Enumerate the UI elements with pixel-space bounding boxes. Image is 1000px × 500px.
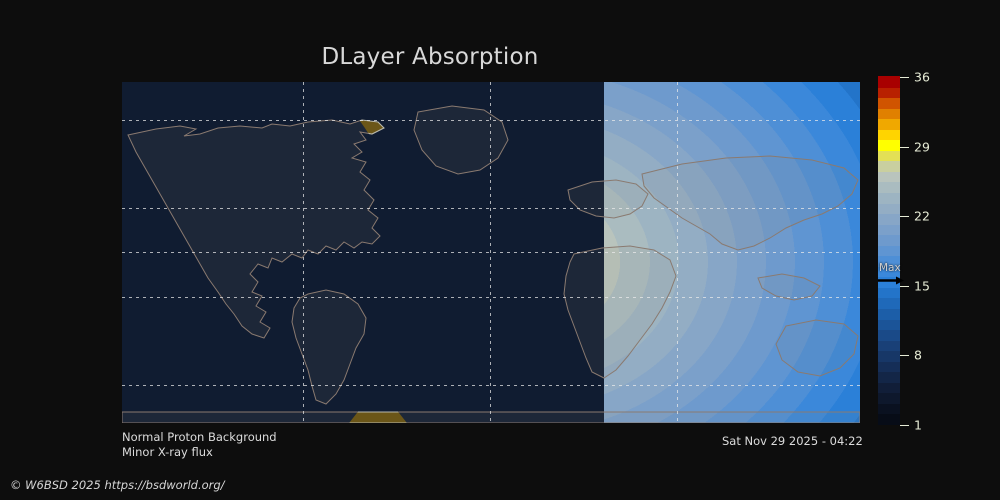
colorbar-tick bbox=[900, 355, 909, 356]
colorbar-band bbox=[878, 372, 900, 383]
colorbar-band bbox=[878, 403, 900, 414]
colorbar-tick-label: 8 bbox=[914, 348, 922, 363]
colorbar-band bbox=[878, 108, 900, 119]
colorbar-tick bbox=[900, 147, 909, 148]
gridline-lat-235 bbox=[122, 208, 860, 209]
colorbar-band bbox=[878, 361, 900, 372]
colorbar-tick-label: 1 bbox=[914, 418, 922, 433]
colorbar-tick bbox=[900, 286, 909, 287]
colorbar-band bbox=[878, 119, 900, 130]
colorbar-tick bbox=[900, 77, 909, 78]
colorbar bbox=[878, 77, 900, 425]
colorbar-band bbox=[878, 414, 900, 425]
colorbar-band bbox=[878, 182, 900, 193]
colorbar-band bbox=[878, 150, 900, 161]
colorbar-band bbox=[878, 308, 900, 319]
colorbar-band bbox=[878, 203, 900, 214]
gridline-lon-90 bbox=[677, 82, 678, 423]
colorbar-axis-title: Affected Frequency (MHz) bbox=[925, 77, 1000, 425]
colorbar-band bbox=[878, 235, 900, 246]
colorbar-band bbox=[878, 393, 900, 404]
colorbar-band bbox=[878, 382, 900, 393]
status-proton: Normal Proton Background bbox=[122, 430, 277, 445]
colorbar-band bbox=[878, 298, 900, 309]
app-root: DLayer Absorption bbox=[0, 0, 1000, 500]
colorbar-band bbox=[878, 98, 900, 109]
gridline-lat-0 bbox=[122, 252, 860, 253]
colorbar-band bbox=[878, 340, 900, 351]
colorbar-tick bbox=[900, 216, 909, 217]
colorbar-tick bbox=[900, 425, 909, 426]
status-block: Normal Proton Background Minor X-ray flu… bbox=[122, 430, 277, 460]
colorbar-band bbox=[878, 351, 900, 362]
colorbar-band bbox=[878, 224, 900, 235]
timestamp: Sat Nov 29 2025 - 04:22 bbox=[722, 434, 863, 448]
world-map bbox=[122, 82, 860, 423]
gridline-lat-665 bbox=[122, 120, 860, 121]
colorbar-band bbox=[878, 192, 900, 203]
max-marker-label: Max bbox=[879, 262, 901, 274]
gridline-lat-m665 bbox=[122, 385, 860, 386]
gridline-lon-0 bbox=[490, 82, 491, 423]
gridline-lon-m90 bbox=[303, 82, 304, 423]
colorbar-band bbox=[878, 287, 900, 298]
colorbar-band bbox=[878, 129, 900, 140]
page-title: DLayer Absorption bbox=[0, 44, 860, 70]
colorbar-band bbox=[878, 161, 900, 172]
colorbar-band bbox=[878, 330, 900, 341]
colorbar-band bbox=[878, 171, 900, 182]
colorbar-band bbox=[878, 245, 900, 256]
colorbar-band bbox=[878, 140, 900, 151]
colorbar-band bbox=[878, 214, 900, 225]
colorbar-band bbox=[878, 87, 900, 98]
status-xray: Minor X-ray flux bbox=[122, 445, 277, 460]
colorbar-band bbox=[878, 76, 900, 87]
copyright-footer: © W6BSD 2025 https://bsdworld.org/ bbox=[10, 478, 225, 492]
colorbar-gradient bbox=[878, 77, 900, 425]
gridline-lat-m235 bbox=[122, 297, 860, 298]
colorbar-band bbox=[878, 319, 900, 330]
